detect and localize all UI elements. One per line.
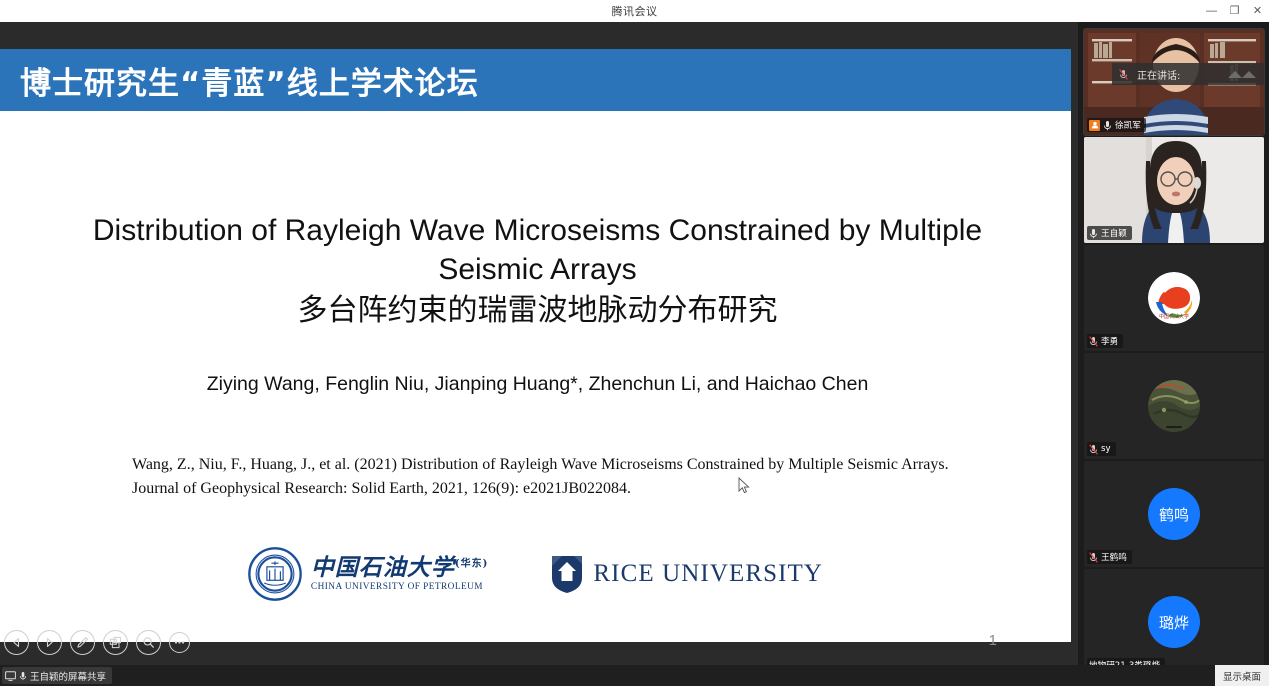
- zoom-button[interactable]: [136, 630, 161, 655]
- mic-icon: [19, 671, 27, 681]
- participant-tile[interactable]: 正在讲话: 徐凯军: [1084, 29, 1264, 135]
- slide-banner: 博士研究生“青蓝”线上学术论坛: [0, 49, 1071, 111]
- photo-avatar-icon: [1148, 380, 1200, 432]
- all-slides-button[interactable]: [103, 630, 128, 655]
- participant-name-tag: 王鹤鸣: [1087, 550, 1132, 564]
- pen-tool-button[interactable]: [70, 630, 95, 655]
- slide-authors: Ziying Wang, Fenglin Niu, Jianping Huang…: [50, 373, 1025, 396]
- participant-tile[interactable]: 鹤鸣 王鹤鸣: [1084, 461, 1264, 567]
- participant-tile[interactable]: sy: [1084, 353, 1264, 459]
- windows-taskbar: 王自颖的屏幕共享 显示桌面: [0, 665, 1269, 686]
- window-title: 腾讯会议: [612, 3, 658, 19]
- participant-name-tag: sy: [1087, 442, 1116, 456]
- system-tray: 显示桌面: [1215, 665, 1269, 686]
- participant-name-tag: 李勇: [1087, 334, 1123, 348]
- slide-page-number: 1: [989, 632, 997, 649]
- slide-logos: 中国石油大学(华东) CHINA UNIVERSITY OF PETROLEUM…: [0, 539, 1071, 609]
- mic-muted-icon: [1089, 552, 1098, 563]
- pen-icon: [76, 636, 89, 649]
- more-options-button[interactable]: [169, 632, 190, 653]
- avatar: 璐烨: [1148, 596, 1200, 648]
- show-desktop-button[interactable]: 显示桌面: [1223, 669, 1261, 683]
- participant-name: 李勇: [1101, 335, 1118, 347]
- participant-tile[interactable]: 中国石油大学 李勇: [1084, 245, 1264, 351]
- window-controls: — ❐ ✕: [1200, 0, 1269, 22]
- close-icon[interactable]: ✕: [1246, 0, 1269, 22]
- china-university-of-petroleum-logo: 中国石油大学(华东) CHINA UNIVERSITY OF PETROLEUM: [248, 547, 488, 601]
- cup-name-chinese: 中国石油大学(华东): [311, 556, 488, 580]
- magnifier-icon: [142, 636, 155, 649]
- slide-citation: Wang, Z., Niu, F., Huang, J., et al. (20…: [132, 453, 977, 501]
- chevron-double-icon: [1227, 69, 1257, 80]
- speaking-indicator: 正在讲话:: [1112, 63, 1264, 85]
- shared-screen-area: 博士研究生“青蓝”线上学术论坛 Distribution of Rayleigh…: [0, 22, 1078, 686]
- avatar: [1148, 380, 1200, 432]
- rice-university-logo: RICE UNIVERSITY: [550, 554, 823, 594]
- cup-wordmark: 中国石油大学(华东) CHINA UNIVERSITY OF PETROLEUM: [311, 556, 488, 592]
- slide-title-chinese: 多台阵约束的瑞雷波地脉动分布研究: [50, 291, 1025, 331]
- avatar: 中国石油大学: [1148, 272, 1200, 324]
- screen-share-icon: [5, 671, 16, 681]
- mic-muted-icon: [1089, 336, 1098, 347]
- avatar: 鹤鸣: [1148, 488, 1200, 540]
- taskbar-shared-screen-item[interactable]: 王自颖的屏幕共享: [2, 667, 112, 684]
- participant-name: 王鹤鸣: [1101, 551, 1127, 563]
- anniversary-logo-icon: 中国石油大学: [1148, 272, 1200, 324]
- mic-icon: [1089, 228, 1098, 239]
- ellipsis-icon: [173, 640, 186, 645]
- participant-strip[interactable]: 正在讲话: 徐凯军: [1078, 22, 1269, 686]
- triangle-right-icon: [44, 637, 55, 648]
- participant-name-tag: 徐凯军: [1087, 118, 1146, 132]
- participant-name: sy: [1101, 444, 1111, 454]
- slide-banner-text: 博士研究生“青蓝”线上学术论坛: [0, 58, 479, 103]
- rice-shield-icon: [550, 554, 584, 594]
- taskbar-shared-screen-label: 王自颖的屏幕共享: [30, 669, 106, 683]
- participant-tile[interactable]: 璐烨 地物研21-3娄璐烨: [1084, 569, 1264, 675]
- slide-body: Distribution of Rayleigh Wave Microseism…: [0, 111, 1071, 642]
- presenter-toolbar: [4, 630, 190, 655]
- participant-tile[interactable]: 王自颖: [1084, 137, 1264, 243]
- tencent-meeting-window: 腾讯会议 — ❐ ✕ 博士研究生“青蓝”线上学术论坛 Distribution …: [0, 0, 1269, 686]
- mic-muted-icon: [1089, 444, 1098, 455]
- participant-name: 王自颖: [1101, 227, 1127, 239]
- cup-seal-icon: [248, 547, 302, 601]
- mic-muted-icon: [1119, 69, 1128, 80]
- window-titlebar: 腾讯会议 — ❐ ✕: [0, 0, 1269, 22]
- slides-grid-icon: [109, 636, 122, 649]
- svg-text:中国石油大学: 中国石油大学: [1159, 313, 1189, 320]
- participant-name: 徐凯军: [1115, 119, 1141, 131]
- triangle-left-icon: [11, 637, 22, 648]
- participant-name-tag: 王自颖: [1087, 226, 1132, 240]
- rice-wordmark: RICE UNIVERSITY: [593, 560, 823, 588]
- slide-title-english: Distribution of Rayleigh Wave Microseism…: [50, 211, 1025, 289]
- previous-slide-button[interactable]: [4, 630, 29, 655]
- next-slide-button[interactable]: [37, 630, 62, 655]
- host-icon: [1089, 120, 1100, 131]
- cup-name-english: CHINA UNIVERSITY OF PETROLEUM: [311, 582, 488, 592]
- minimize-icon[interactable]: —: [1200, 0, 1223, 22]
- mic-icon: [1103, 120, 1112, 131]
- speaking-label: 正在讲话:: [1137, 67, 1180, 82]
- maximize-icon[interactable]: ❐: [1223, 0, 1246, 22]
